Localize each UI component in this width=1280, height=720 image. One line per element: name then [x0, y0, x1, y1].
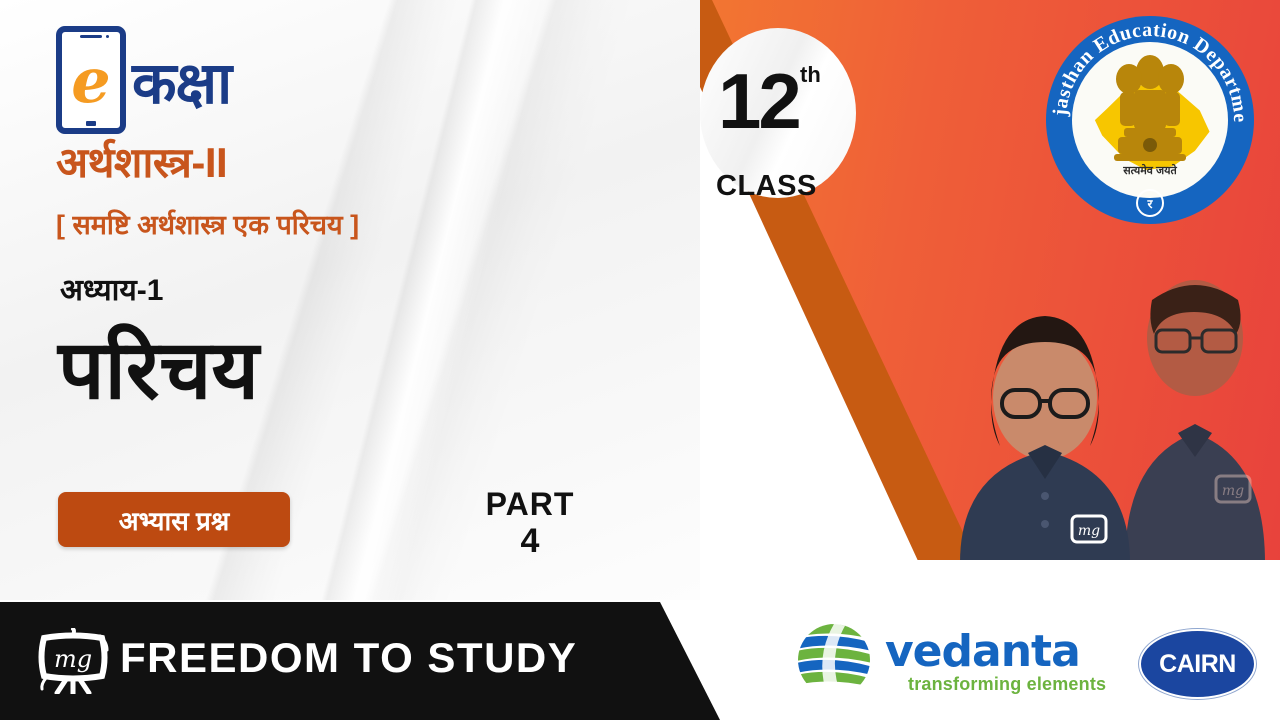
cairn-wordmark: CAIRN	[1159, 650, 1236, 679]
instructor-photo: mg mg	[920, 248, 1280, 563]
title-card: mg mg	[0, 0, 1280, 720]
sponsor-cairn: CAIRN	[1139, 629, 1256, 699]
svg-text:mg: mg	[1078, 523, 1100, 539]
practice-questions-label: अभ्यास प्रश्न	[119, 502, 229, 538]
chapter-title: परिचय	[58, 330, 259, 412]
logo-letter-e: e	[71, 50, 110, 112]
chapter-label: अध्याय-1	[60, 268, 163, 309]
vedanta-tagline: transforming elements	[908, 674, 1106, 695]
mg-logo-text: mg	[54, 645, 92, 673]
part-indicator: PART 4	[430, 488, 630, 561]
subject-subtitle: [ समष्टि अर्थशास्त्र एक परिचय ]	[56, 205, 359, 242]
class-word: CLASS	[716, 170, 817, 203]
class-number: 12	[718, 62, 799, 140]
smartphone-icon: e	[56, 26, 126, 134]
ekaksha-logo[interactable]: e कक्षा	[56, 26, 231, 134]
vedanta-wordmark: vedanta	[885, 626, 1080, 677]
svg-text:mg: mg	[1222, 483, 1244, 499]
vedanta-globe-icon	[790, 620, 878, 700]
banner-tagline: FREEDOM TO STUDY	[120, 634, 577, 682]
instructor-female: mg	[960, 316, 1130, 563]
instructor-male: mg	[1125, 280, 1265, 563]
logo-wordmark: कक्षा	[132, 41, 231, 120]
sponsor-vedanta: vedanta transforming elements	[790, 620, 1130, 702]
mg-blackboard-logo: mg	[34, 628, 112, 694]
emblem-bottom-mark: र	[1136, 189, 1164, 217]
part-word: PART	[430, 488, 630, 522]
part-number: 4	[430, 522, 630, 561]
class-ordinal: th	[800, 62, 821, 88]
practice-questions-button[interactable]: अभ्यास प्रश्न	[58, 492, 290, 547]
subject-title: अर्थशास्त्र-II	[56, 133, 227, 190]
svg-text:Rajasthan Education Department: Rajasthan Education Department	[1046, 16, 1251, 123]
rajasthan-education-department-emblem: सत्यमेव जयते Rajasthan Education Departm…	[1046, 16, 1254, 224]
